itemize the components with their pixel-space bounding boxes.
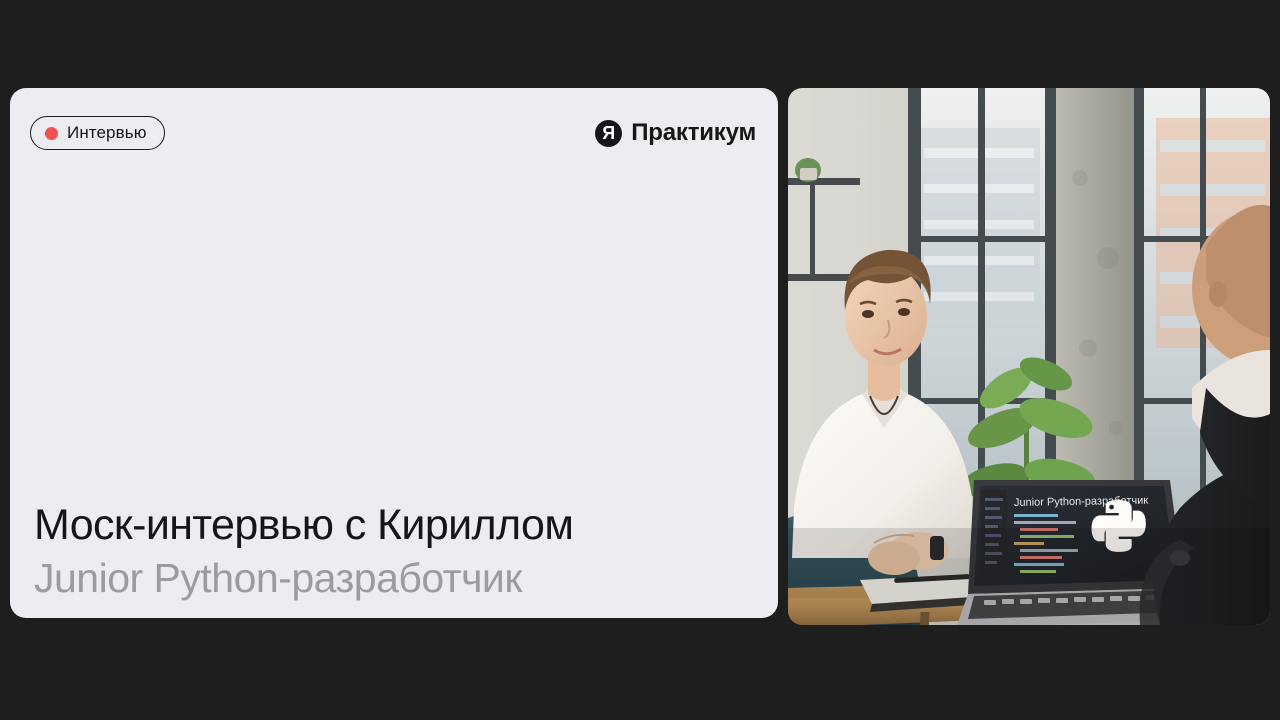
promo-card: Интервью Я Практикум Моск-интервью с Кир… (10, 88, 778, 618)
record-dot-icon (45, 127, 58, 140)
interview-photo-illustration: Junior Python-разработчик (788, 88, 1270, 625)
screenshot-root: Интервью Я Практикум Моск-интервью с Кир… (0, 0, 1280, 720)
page-subtitle: Junior Python-разработчик (34, 556, 754, 602)
brand-name-label: Практикум (631, 119, 756, 147)
interview-badge-label: Интервью (67, 123, 147, 143)
interview-badge[interactable]: Интервью (30, 116, 165, 150)
card-text-block: Моск-интервью с Кириллом Junior Python-р… (34, 501, 754, 602)
brand-logo: Я Практикум (595, 119, 756, 147)
card-header: Интервью Я Практикум (10, 88, 778, 178)
interview-photo: Junior Python-разработчик (788, 88, 1270, 625)
yandex-logo-icon: Я (595, 120, 622, 147)
page-title: Моск-интервью с Кириллом (34, 501, 754, 549)
